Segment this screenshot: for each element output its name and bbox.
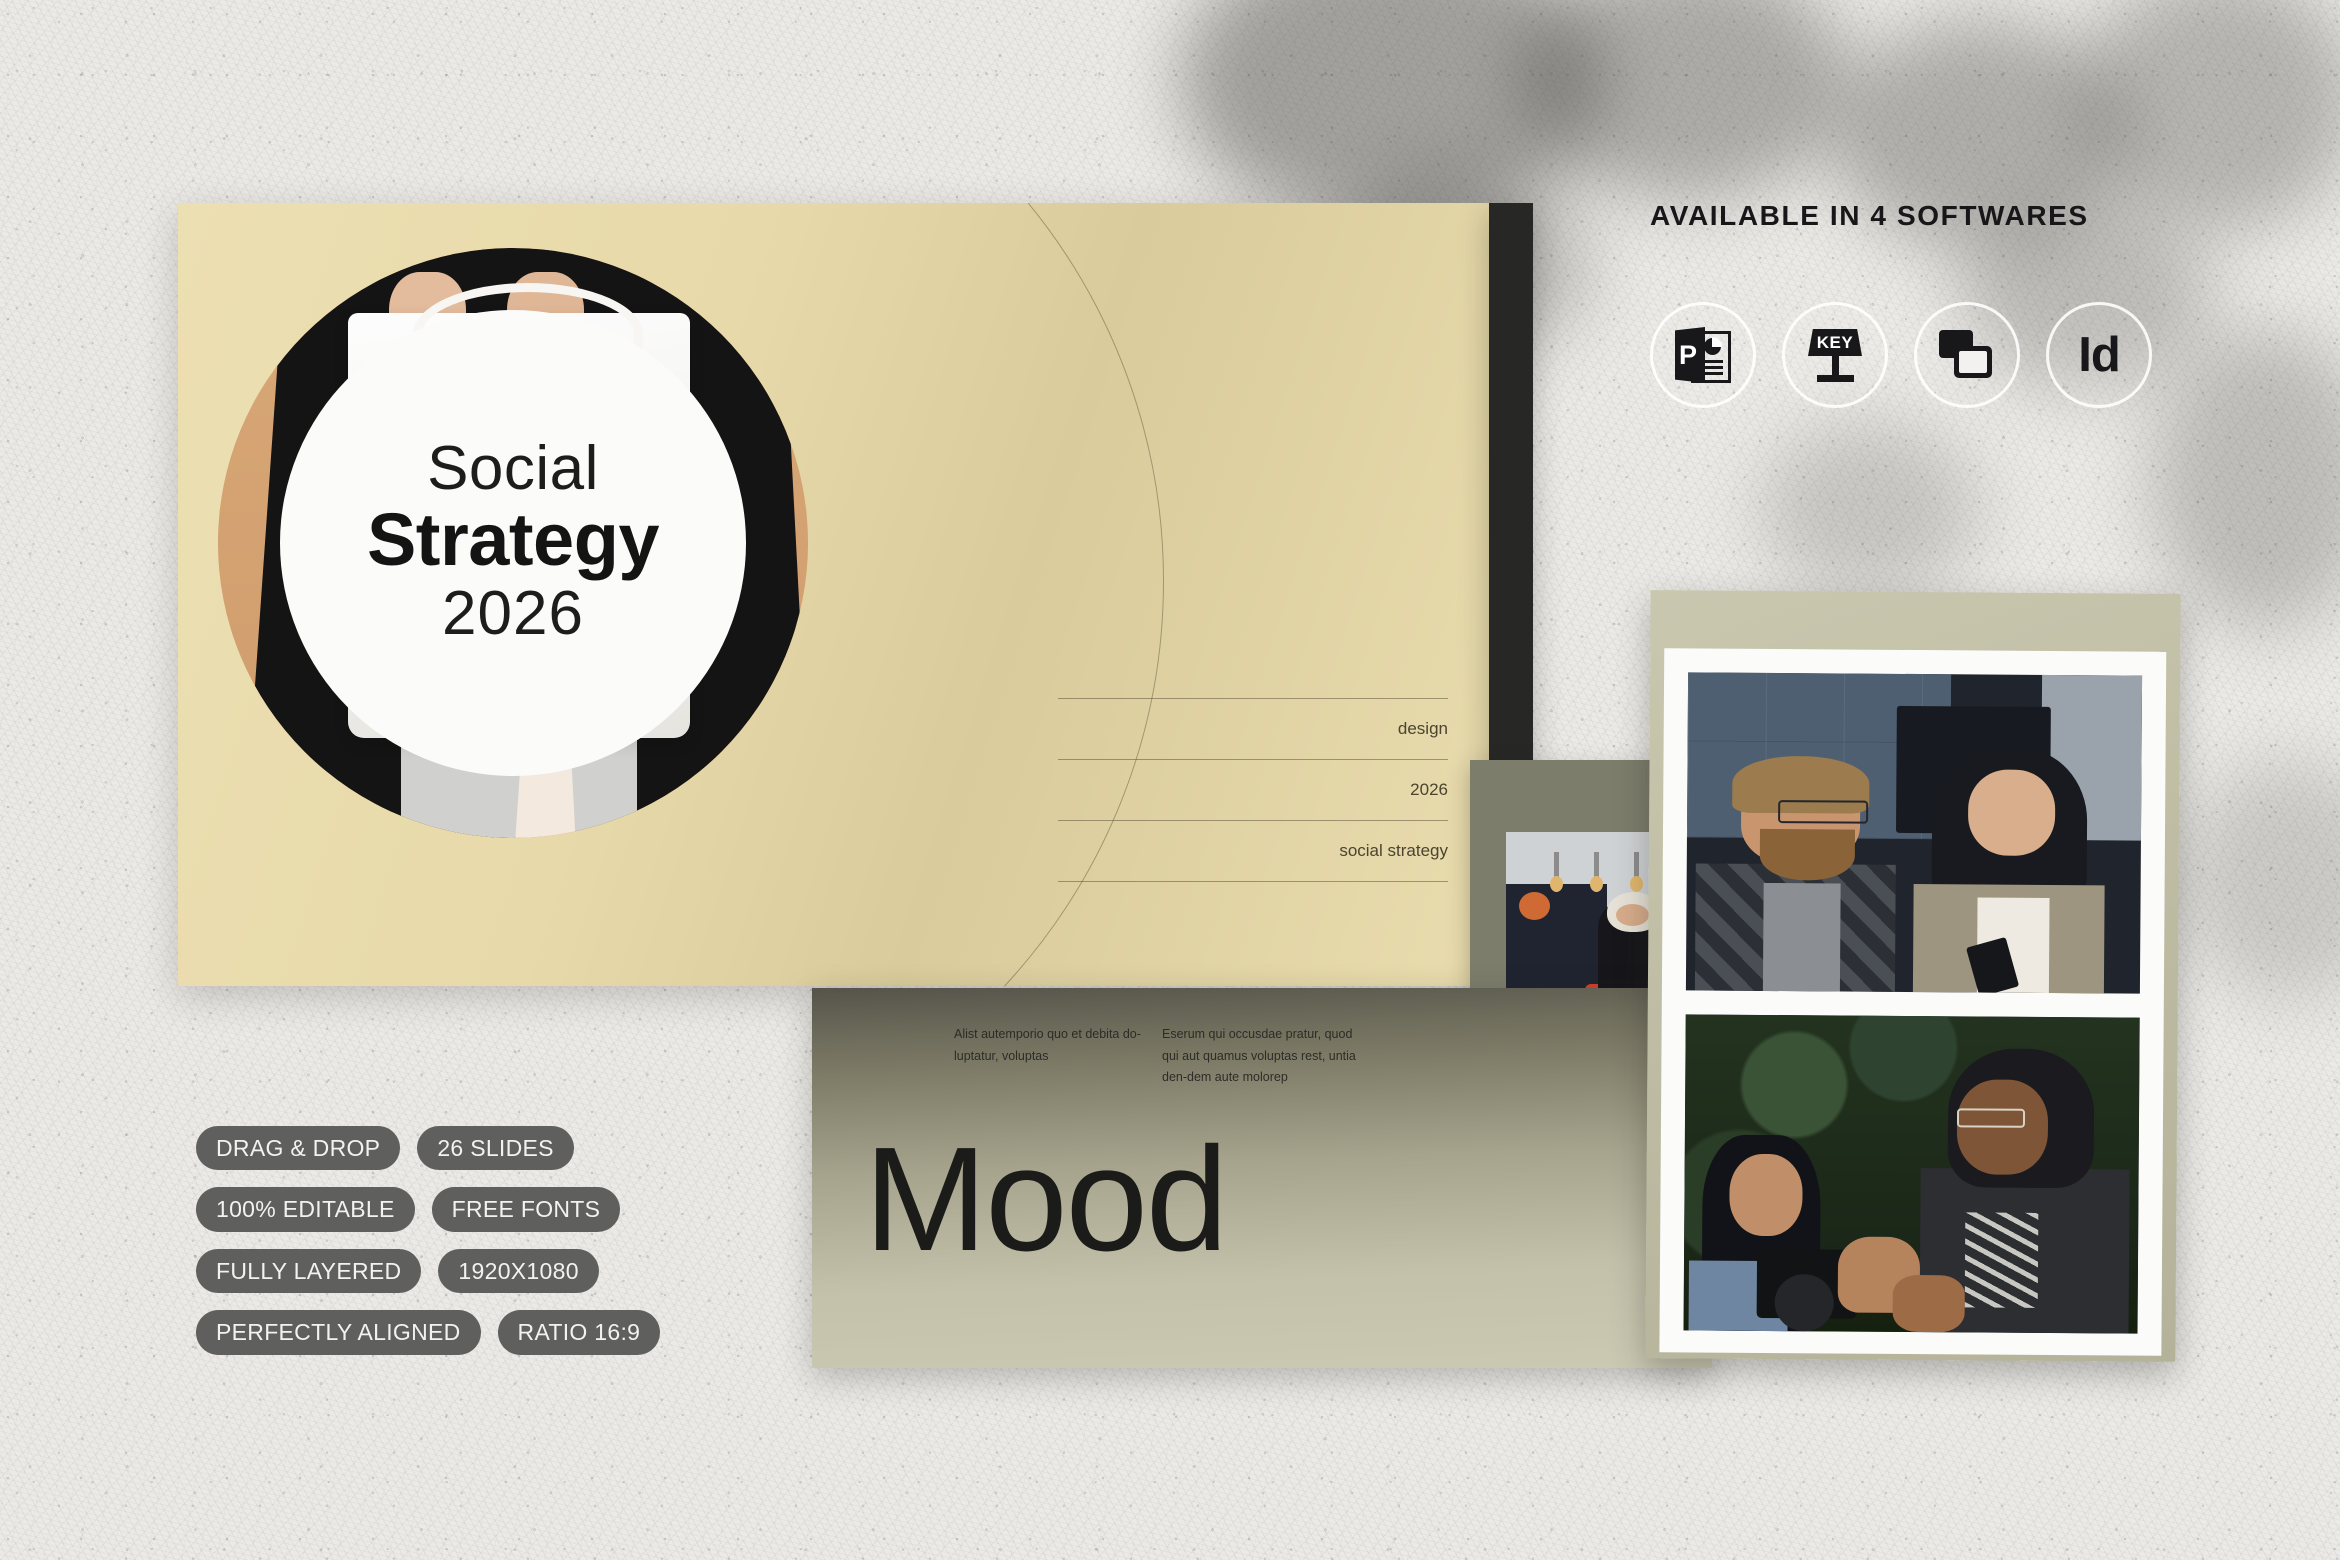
photo-card-outdoor-pair xyxy=(1684,1014,2140,1333)
available-softwares-title: AVAILABLE IN 4 SOFTWARES xyxy=(1650,200,2089,232)
badge-editable: 100% EDITABLE xyxy=(196,1187,415,1231)
indesign-icon[interactable]: Id xyxy=(2046,302,2152,408)
office-person-face xyxy=(1616,904,1649,926)
title-slide[interactable]: Social Strategy 2026 design 2026 social … xyxy=(178,203,1489,986)
man-beard xyxy=(1759,829,1855,881)
title-line-social: Social xyxy=(427,438,599,500)
man-glasses xyxy=(1778,800,1868,824)
title-line-strategy: Strategy xyxy=(367,500,659,580)
title-line-year: 2026 xyxy=(442,580,584,648)
woman-face xyxy=(1968,770,2055,856)
mood-title: Mood xyxy=(864,1126,1226,1274)
badge-perfectly-aligned: PERFECTLY ALIGNED xyxy=(196,1310,481,1354)
badge-drag-and-drop: DRAG & DROP xyxy=(196,1126,400,1170)
pendant-bulb xyxy=(1594,852,1599,878)
keynote-screen: KEY xyxy=(1808,329,1862,356)
woman-face xyxy=(1730,1154,1803,1237)
menu-item-2026[interactable]: 2026 xyxy=(1058,759,1448,820)
slides-glyph xyxy=(1939,330,1995,380)
circular-badge: Social Strategy 2026 xyxy=(218,248,808,838)
feature-badges: DRAG & DROP 26 SLIDES 100% EDITABLE FREE… xyxy=(196,1126,756,1372)
tshirt-print xyxy=(1965,1212,2038,1307)
keynote-icon[interactable]: KEY xyxy=(1782,302,1888,408)
powerpoint-icon[interactable]: P xyxy=(1650,302,1756,408)
badge-row: PERFECTLY ALIGNED RATIO 16:9 xyxy=(196,1310,756,1354)
photo-card-office-pair xyxy=(1686,672,2142,993)
badge-fully-layered: FULLY LAYERED xyxy=(196,1249,421,1293)
indesign-letters: Id xyxy=(2078,331,2120,380)
photo-panel-inner xyxy=(1659,648,2166,1355)
keynote-base xyxy=(1817,375,1854,382)
badge-row: 100% EDITABLE FREE FONTS xyxy=(196,1187,756,1231)
menu-item-design[interactable]: design xyxy=(1058,698,1448,759)
mood-paragraph-1: Alist autemporio quo et debita do-luptat… xyxy=(954,1024,1164,1067)
powerpoint-letter: P xyxy=(1679,342,1697,369)
office-decor xyxy=(1519,892,1550,920)
keynote-letter: KEY xyxy=(1817,333,1853,353)
keynote-glyph: KEY xyxy=(1805,327,1865,383)
man-tshirt xyxy=(1763,883,1841,992)
photo-panel-slide[interactable] xyxy=(1645,590,2180,1362)
menu-item-social-strategy[interactable]: social strategy xyxy=(1058,820,1448,882)
powerpoint-pie xyxy=(1704,338,1721,355)
powerpoint-panel: P xyxy=(1675,327,1705,383)
pendant-bulb xyxy=(1554,852,1559,878)
camera-lens xyxy=(1774,1274,1833,1331)
keynote-stand xyxy=(1832,356,1839,376)
menu-label: social strategy xyxy=(1339,841,1448,861)
slides-front-rect xyxy=(1954,346,1992,378)
menu-label: 2026 xyxy=(1410,780,1448,800)
foliage-shadow xyxy=(1760,420,1980,600)
man-glasses xyxy=(1957,1108,2025,1128)
badge-row: DRAG & DROP 26 SLIDES xyxy=(196,1126,756,1170)
badge-ratio: RATIO 16:9 xyxy=(498,1310,661,1354)
pendant-bulb xyxy=(1634,852,1639,878)
powerpoint-glyph: P xyxy=(1675,327,1731,383)
google-slides-icon[interactable] xyxy=(1914,302,2020,408)
badge-resolution: 1920X1080 xyxy=(438,1249,598,1293)
menu-label: design xyxy=(1398,719,1448,739)
badge-free-fonts: FREE FONTS xyxy=(432,1187,621,1231)
badge-slide-count: 26 SLIDES xyxy=(417,1126,574,1170)
software-icons: P KEY Id xyxy=(1650,302,2152,408)
hand-holding-camera xyxy=(1892,1275,1965,1332)
mood-paragraph-2: Eserum qui occusdae pratur, quod qui aut… xyxy=(1162,1024,1372,1089)
title-slide-menu: design 2026 social strategy xyxy=(1058,698,1448,882)
badge-row: FULLY LAYERED 1920X1080 xyxy=(196,1249,756,1293)
title-disc: Social Strategy 2026 xyxy=(280,310,746,776)
mood-slide[interactable]: Alist autemporio quo et debita do-luptat… xyxy=(812,988,1712,1368)
